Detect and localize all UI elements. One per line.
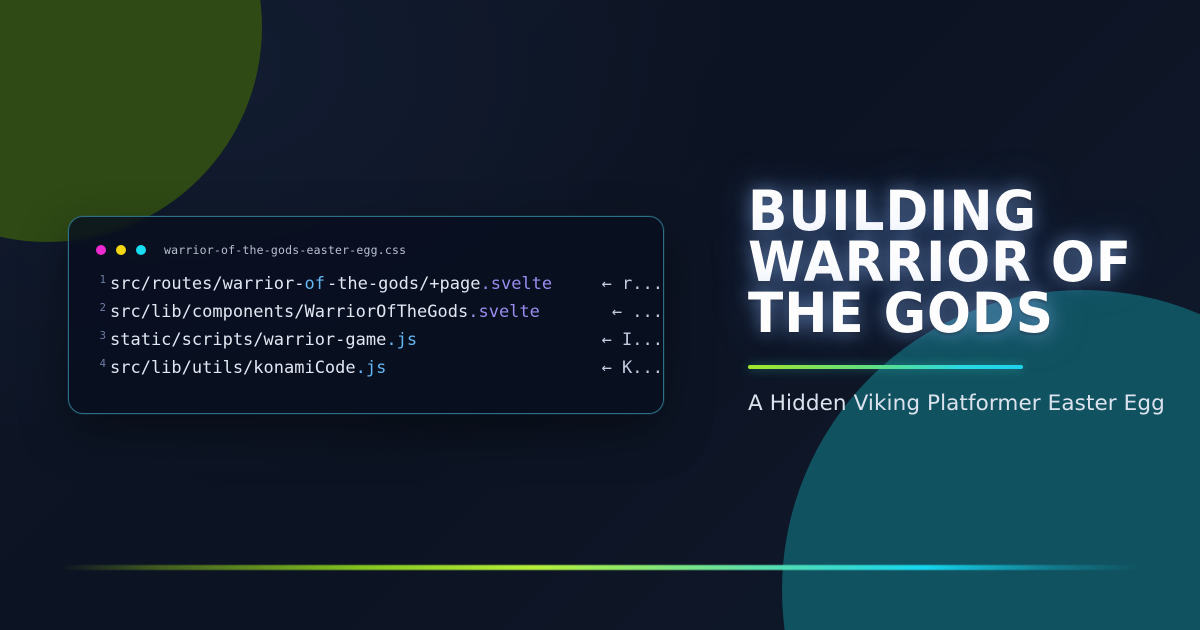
code-line-path: src/lib/components/WarriorOfTheGods.svel… — [108, 298, 540, 326]
code-line: 3static/scripts/warrior-game.js← I... — [96, 326, 663, 354]
window-maximize-dot-icon[interactable] — [136, 245, 146, 255]
page-subtitle: A Hidden Viking Platformer Easter Egg — [748, 391, 1168, 417]
code-token-plain: -the-gods/+page — [327, 274, 481, 294]
background-blob-green — [0, 0, 262, 242]
code-line: 2src/lib/components/WarriorOfTheGods.sve… — [96, 298, 663, 326]
code-line-number: 3 — [96, 331, 106, 342]
code-token-ext-svelte: .svelte — [468, 302, 540, 322]
code-token-plain: src/lib/utils/konamiCode — [110, 358, 356, 378]
code-line-comment: ← I... — [584, 326, 663, 354]
code-window-titlebar: warrior-of-the-gods-easter-egg.css — [69, 217, 663, 261]
hero-column: BUILDINGWARRIOR OFTHE GODS A Hidden Viki… — [748, 186, 1168, 417]
code-token-keyword: of — [304, 274, 324, 294]
code-line-path: src/routes/warrior-of-the-gods/+page.sve… — [108, 270, 552, 298]
window-minimize-dot-icon[interactable] — [116, 245, 126, 255]
code-line-path: src/lib/utils/konamiCode.js — [108, 354, 386, 382]
code-token-ext-js: .js — [356, 358, 387, 378]
code-window-body: 1src/routes/warrior-of-the-gods/+page.sv… — [69, 261, 663, 382]
code-line-path: static/scripts/warrior-game.js — [108, 326, 417, 354]
code-token-plain: src/routes/warrior- — [110, 274, 304, 294]
social-card: warrior-of-the-gods-easter-egg.css 1src/… — [0, 0, 1200, 630]
window-close-dot-icon[interactable] — [96, 245, 106, 255]
code-line-number: 4 — [96, 359, 106, 370]
code-token-ext-js: .js — [386, 330, 417, 350]
code-window: warrior-of-the-gods-easter-egg.css 1src/… — [68, 216, 664, 414]
code-line-number: 1 — [96, 275, 106, 286]
title-accent-bar — [748, 365, 1023, 369]
page-title-line-3: THE GODS — [748, 288, 1143, 339]
bottom-gradient-bar — [60, 565, 1140, 570]
code-line: 4src/lib/utils/konamiCode.js← K... — [96, 354, 663, 382]
code-token-plain: static/scripts/warrior-game — [110, 330, 386, 350]
code-line-comment: ← r... — [584, 270, 663, 298]
code-token-plain: src/lib/components/WarriorOfTheGods — [110, 302, 468, 322]
code-line-number: 2 — [96, 303, 106, 314]
code-line: 1src/routes/warrior-of-the-gods/+page.sv… — [96, 270, 663, 298]
page-title: BUILDINGWARRIOR OFTHE GODS — [748, 186, 1143, 339]
code-line-comment: ← K... — [584, 354, 663, 382]
code-window-filename: warrior-of-the-gods-easter-egg.css — [164, 243, 406, 257]
code-line-comment: ← ... — [594, 298, 663, 326]
code-token-ext-svelte: .svelte — [480, 274, 552, 294]
